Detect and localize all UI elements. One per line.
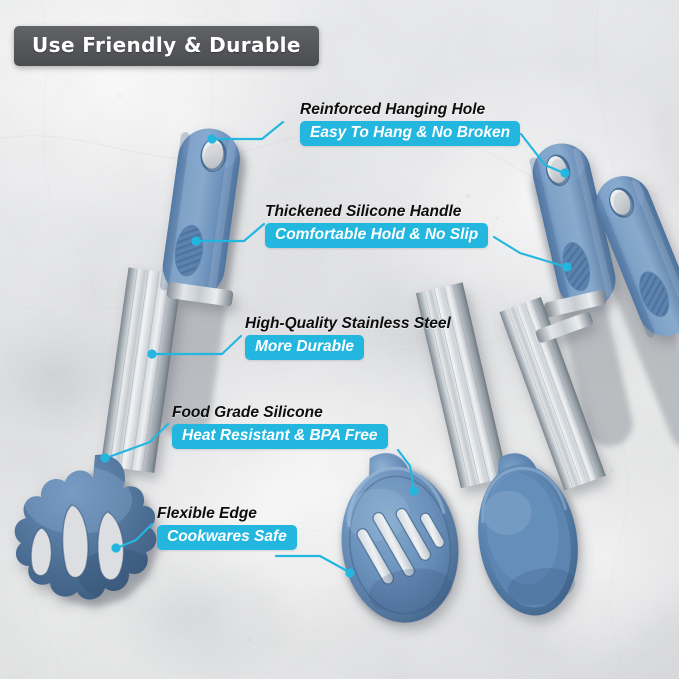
callout-hanging-hole-heading: Reinforced Hanging Hole <box>300 101 520 118</box>
callout-hanging-hole: Reinforced Hanging Hole Easy To Hang & N… <box>300 101 520 146</box>
callout-food-grade-silicone: Food Grade Silicone Heat Resistant & BPA… <box>172 404 388 449</box>
callout-stainless-steel: High-Quality Stainless Steel More Durabl… <box>245 315 451 360</box>
callout-stainless-steel-heading: High-Quality Stainless Steel <box>245 315 451 332</box>
callout-flexible-edge-pill: Cookwares Safe <box>157 525 297 550</box>
callout-silicone-handle-pill: Comfortable Hold & No Slip <box>265 223 488 248</box>
callout-silicone-handle: Thickened Silicone Handle Comfortable Ho… <box>265 203 488 248</box>
slotted-spoon-bowl <box>330 445 469 631</box>
callout-flexible-edge: Flexible Edge Cookwares Safe <box>157 505 297 550</box>
callout-food-grade-silicone-pill: Heat Resistant & BPA Free <box>172 424 388 449</box>
callout-stainless-steel-pill: More Durable <box>245 335 364 360</box>
callout-silicone-handle-heading: Thickened Silicone Handle <box>265 203 488 220</box>
title-banner: Use Friendly & Durable <box>14 26 319 66</box>
callout-food-grade-silicone-heading: Food Grade Silicone <box>172 404 388 421</box>
callout-hanging-hole-pill: Easy To Hang & No Broken <box>300 121 520 146</box>
callout-flexible-edge-heading: Flexible Edge <box>157 505 297 522</box>
product-infographic: Use Friendly & Durable Reinforced Hangin… <box>0 0 679 679</box>
title-banner-label: Use Friendly & Durable <box>32 33 301 57</box>
